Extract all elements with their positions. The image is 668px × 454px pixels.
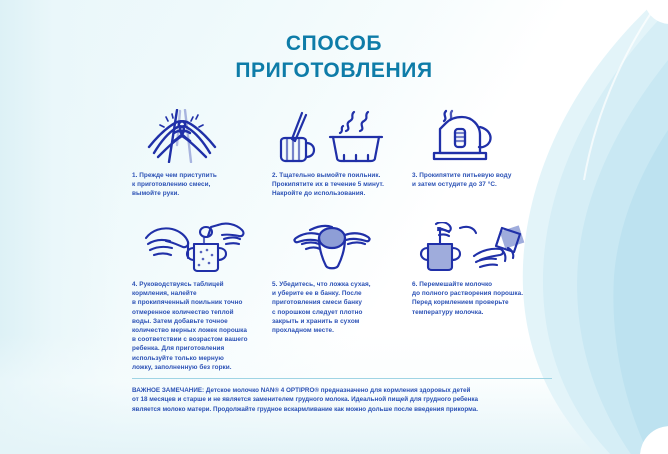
step-6-icon-box: [412, 220, 542, 272]
step-5: 5. Убедитесь, что ложка сухая, и уберите…: [272, 220, 412, 372]
step-1-text: 1. Прежде чем приступить к приготовлению…: [132, 163, 262, 199]
step-3-text: 3. Прокипятите питьевую воду и затем ост…: [412, 163, 542, 189]
step-1-icon-box: [132, 105, 262, 163]
step-5-text: 5. Убедитесь, что ложка сухая, и уберите…: [272, 272, 402, 335]
step-2-text: 2. Тщательно вымойте поильник. Прокипяти…: [272, 163, 402, 199]
footer-note-text: ВАЖНОЕ ЗАМЕЧАНИЕ: Детское молочко NAN® 4…: [132, 386, 552, 414]
step-3-icon-box: [412, 105, 542, 163]
important-note-footer: ВАЖНОЕ ЗАМЕЧАНИЕ: Детское молочко NAN® 4…: [132, 378, 552, 414]
page-title: СПОСОБ ПРИГОТОВЛЕНИЯ: [0, 30, 668, 84]
steps-grid: 1. Прежде чем приступить к приготовлению…: [132, 105, 552, 372]
bottle-brush-and-boiling-pot-icon: [278, 109, 388, 163]
preparation-instructions-page: СПОСОБ ПРИГОТОВЛЕНИЯ: [0, 0, 668, 454]
steps-row-2: 4. Руководствуясь таблицей кормления, на…: [132, 220, 552, 372]
step-4-text: 4. Руководствуясь таблицей кормления, на…: [132, 272, 262, 372]
step-4-icon-box: [132, 220, 262, 272]
step-6: 6. Перемешайте молочко до полного раство…: [412, 220, 552, 372]
dry-scoop-in-can-icon: [280, 222, 384, 272]
step-2-icon-box: [272, 105, 402, 163]
electric-kettle-icon: [422, 109, 498, 163]
stir-and-check-temperature-icon: [416, 222, 536, 272]
step-6-text: 6. Перемешайте молочко до полного раство…: [412, 272, 542, 317]
step-3: 3. Прокипятите питьевую воду и затем ост…: [412, 105, 552, 210]
step-4: 4. Руководствуясь таблицей кормления, на…: [132, 220, 272, 372]
footer-divider: [132, 378, 552, 379]
step-2: 2. Тщательно вымойте поильник. Прокипяти…: [272, 105, 412, 210]
step-1: 1. Прежде чем приступить к приготовлению…: [132, 105, 272, 210]
pouring-water-and-scoop-icon: [144, 222, 264, 272]
page-title-line-2: ПРИГОТОВЛЕНИЯ: [0, 57, 668, 84]
step-5-icon-box: [272, 220, 402, 272]
page-title-line-1: СПОСОБ: [286, 32, 382, 55]
washing-hands-icon: [144, 109, 220, 163]
steps-row-1: 1. Прежде чем приступить к приготовлению…: [132, 105, 552, 210]
